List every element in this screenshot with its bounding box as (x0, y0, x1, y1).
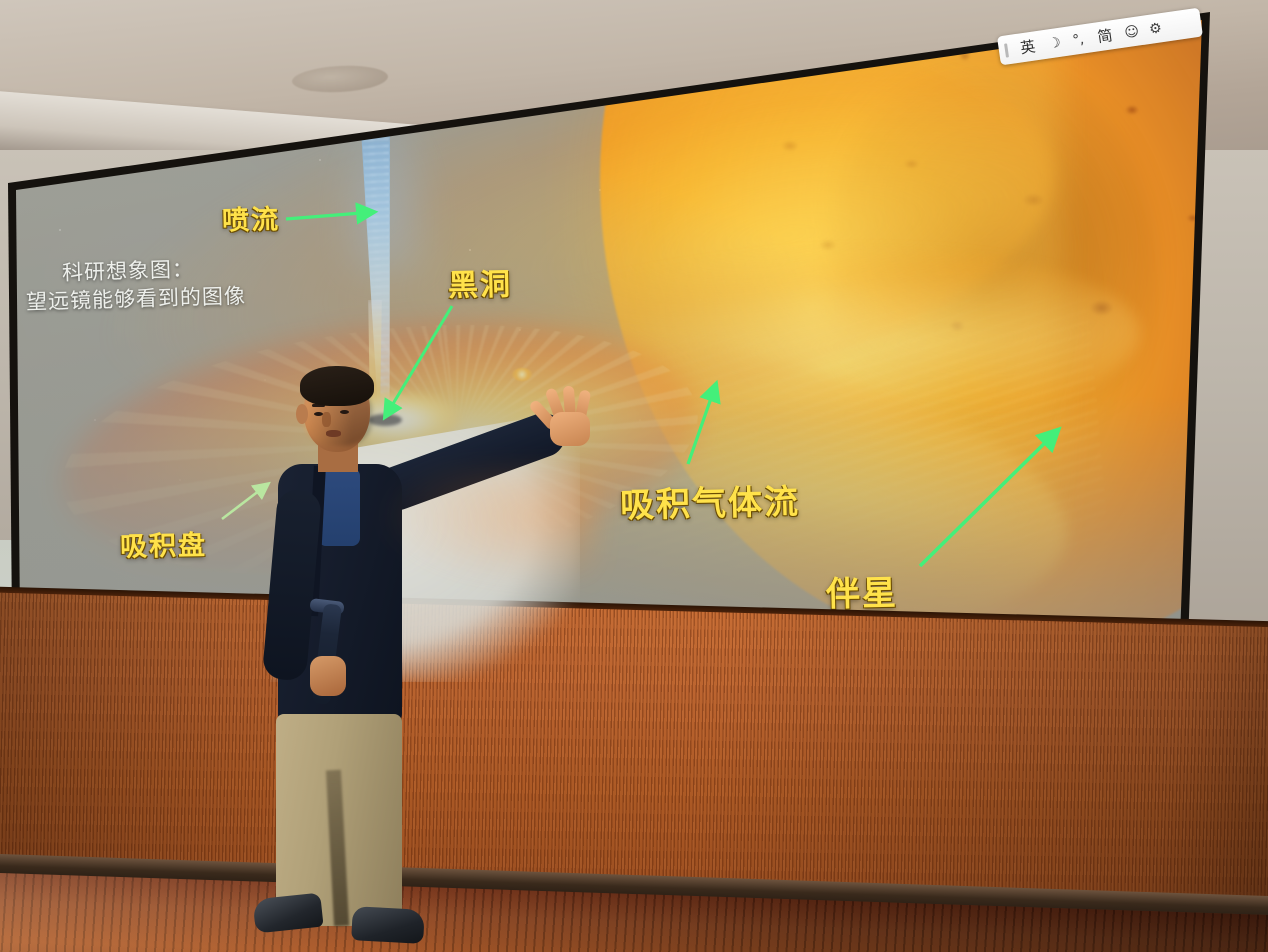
moon-icon[interactable]: ☽ (1041, 30, 1068, 56)
presenter (226, 368, 606, 928)
ime-script-toggle[interactable]: 简 (1088, 22, 1121, 49)
punctuation-toggle-icon[interactable]: °, (1065, 27, 1092, 53)
ime-drag-handle[interactable] (1004, 43, 1009, 57)
emoji-icon[interactable]: ☺ (1118, 19, 1145, 45)
presenter-left-hand (310, 656, 346, 696)
arrow-jet (286, 212, 374, 219)
presenter-mouth (326, 430, 341, 437)
annotation-label-gas-flow: 吸积气体流 (620, 474, 801, 527)
presenter-ear (296, 404, 308, 424)
presenter-nose (322, 412, 331, 427)
annotation-label-jet: 喷流 (222, 197, 281, 237)
annotation-label-blackhole: 黑洞 (448, 259, 513, 304)
annotation-label-companion-star: 伴星 (825, 565, 898, 615)
presenter-left-shoe (252, 893, 323, 934)
ime-language-toggle[interactable]: 英 (1011, 33, 1044, 60)
presenter-palm (550, 412, 590, 446)
settings-gear-icon[interactable]: ⚙ (1142, 15, 1169, 41)
presenter-eye (340, 410, 349, 414)
presenter-hair (300, 366, 374, 406)
arrow-companion (920, 430, 1058, 566)
presenter-right-hand (538, 386, 594, 446)
presenter-right-shoe (351, 906, 425, 944)
slide-note-line1: 科研想象图： (62, 256, 195, 287)
lecture-hall-photo: 科研想象图： 望远镜能够看到的图像 喷流 黑洞 吸积盘 吸积气体流 伴星 (0, 0, 1268, 952)
annotation-label-accretion-disk: 吸积盘 (120, 523, 208, 564)
arrow-gasflow (688, 384, 716, 464)
